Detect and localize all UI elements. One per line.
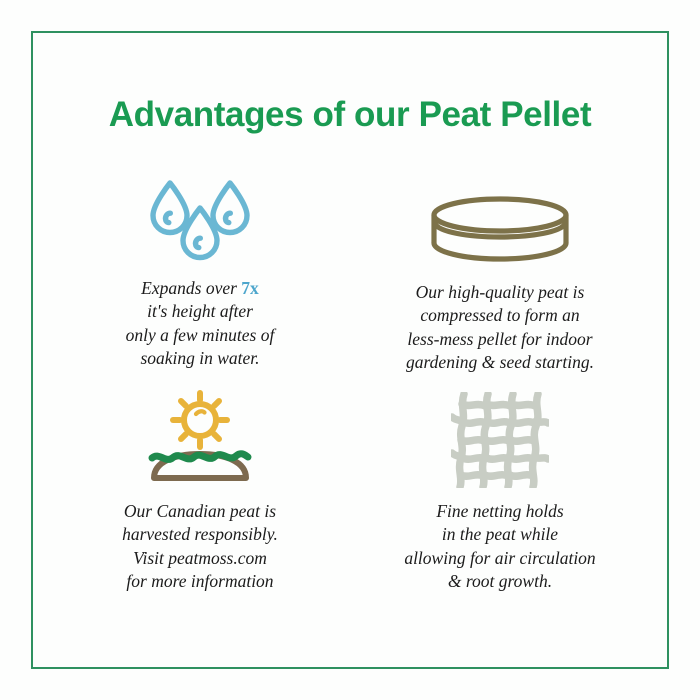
- netting-mesh-icon: [451, 392, 549, 488]
- caption-line: less-mess pellet for indoor: [406, 328, 594, 351]
- caption-line: harvested responsibly.: [122, 523, 278, 546]
- feature-card-netting: Fine netting holds in the peat while all…: [350, 388, 650, 613]
- sun-icon: [173, 393, 227, 447]
- caption-line: Our Canadian peat is: [122, 500, 278, 523]
- caption-line: & root growth.: [404, 570, 595, 593]
- caption-line: gardening & seed starting.: [406, 351, 594, 374]
- feature-caption: Our high-quality peat is compressed to f…: [406, 281, 594, 374]
- caption-line: Our high-quality peat is: [406, 281, 594, 304]
- feature-card-expansion: Expands over 7x it's height after only a…: [50, 163, 350, 388]
- feature-caption: Our Canadian peat is harvested responsib…: [122, 500, 278, 593]
- caption-line: Expands over 7x: [126, 277, 275, 300]
- caption-line: only a few minutes of: [126, 324, 275, 347]
- caption-line: Fine netting holds: [404, 500, 595, 523]
- caption-line: compressed to form an: [406, 304, 594, 327]
- feature-icon-wrap: [144, 163, 256, 265]
- feature-card-sustainability: Our Canadian peat is harvested responsib…: [50, 388, 350, 613]
- page-title: Advantages of our Peat Pellet: [0, 95, 700, 135]
- caption-line: allowing for air circulation: [404, 547, 595, 570]
- sun-over-field-icon: [146, 390, 254, 488]
- water-droplets-icon: [144, 177, 256, 265]
- features-grid: Expands over 7x it's height after only a…: [50, 163, 650, 613]
- feature-icon-wrap: [146, 388, 254, 488]
- caption-line: soaking in water.: [126, 347, 275, 370]
- peat-pellet-cylinder-icon: [426, 193, 574, 269]
- caption-line: it's height after: [126, 300, 275, 323]
- highlight-multiplier: 7x: [241, 278, 259, 298]
- caption-line: for more information: [122, 570, 278, 593]
- grass-wave-icon: [152, 454, 248, 460]
- caption-line: Visit peatmoss.com: [122, 547, 278, 570]
- feature-icon-wrap: [426, 163, 574, 269]
- feature-caption: Fine netting holds in the peat while all…: [404, 500, 595, 593]
- caption-text: Expands over: [141, 278, 241, 298]
- caption-line: in the peat while: [404, 523, 595, 546]
- feature-icon-wrap: [451, 388, 549, 488]
- feature-caption: Expands over 7x it's height after only a…: [126, 277, 275, 370]
- infographic-poster: Advantages of our Peat Pellet: [0, 0, 700, 700]
- feature-card-compression: Our high-quality peat is compressed to f…: [350, 163, 650, 388]
